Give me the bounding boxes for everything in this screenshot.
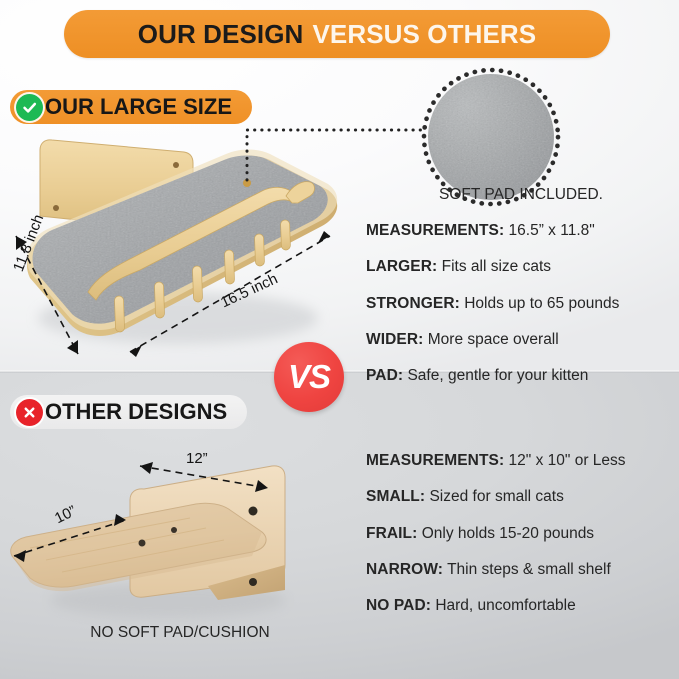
- feature-row: STRONGER: Holds up to 65 pounds: [366, 295, 676, 313]
- section-badge-others-label: OTHER DESIGNS: [45, 399, 227, 425]
- feature-list-others: MEASUREMENTS: 12" x 10" or Less SMALL: S…: [366, 452, 676, 634]
- feature-key: PAD:: [366, 367, 403, 384]
- x-circle-icon: [16, 399, 43, 426]
- header-title-secondary: VERSUS OTHERS: [312, 19, 536, 50]
- feature-row: LARGER: Fits all size cats: [366, 258, 676, 276]
- feature-value: Thin steps & small shelf: [447, 561, 611, 578]
- header-title-primary: OUR DESIGN: [138, 19, 304, 50]
- feature-row: MEASUREMENTS: 12" x 10" or Less: [366, 452, 676, 470]
- feature-key: WIDER:: [366, 331, 423, 348]
- feature-key: SMALL:: [366, 488, 425, 505]
- feature-value: 16.5” x 11.8": [509, 222, 595, 239]
- feature-row: WIDER: More space overall: [366, 331, 676, 349]
- section-badge-ours: OUR LARGE SIZE: [10, 90, 252, 124]
- infographic-canvas: OUR DESIGN VERSUS OTHERS OUR LARGE SIZE …: [0, 0, 679, 679]
- feature-key: MEASUREMENTS:: [366, 452, 504, 469]
- feature-row: NARROW: Thin steps & small shelf: [366, 561, 676, 579]
- feature-key: NO PAD:: [366, 597, 431, 614]
- dimension-label-width-bottom: 12”: [186, 450, 208, 467]
- vs-badge: VS: [274, 342, 344, 412]
- feature-key: FRAIL:: [366, 525, 417, 542]
- feature-value: Fits all size cats: [442, 258, 551, 275]
- feature-row: SMALL: Sized for small cats: [366, 488, 676, 506]
- header-banner: OUR DESIGN VERSUS OTHERS: [64, 10, 610, 58]
- section-badge-ours-label: OUR LARGE SIZE: [45, 94, 232, 120]
- feature-key: STRONGER:: [366, 295, 460, 312]
- feature-value: Sized for small cats: [429, 488, 563, 505]
- section-badge-others: OTHER DESIGNS: [10, 395, 247, 429]
- feature-value: Safe, gentle for your kitten: [407, 367, 588, 384]
- soft-pad-caption: SOFT PAD INCLUDED.: [366, 186, 676, 204]
- feature-key: LARGER:: [366, 258, 437, 275]
- feature-value: Holds up to 65 pounds: [464, 295, 619, 312]
- feature-value: 12" x 10" or Less: [509, 452, 626, 469]
- feature-row: MEASUREMENTS: 16.5” x 11.8": [366, 222, 676, 240]
- feature-value: More space overall: [428, 331, 559, 348]
- feature-row: FRAIL: Only holds 15-20 pounds: [366, 525, 676, 543]
- feature-row: PAD: Safe, gentle for your kitten: [366, 367, 676, 385]
- feature-value: Only holds 15-20 pounds: [422, 525, 594, 542]
- vs-label: VS: [288, 358, 330, 396]
- feature-key: NARROW:: [366, 561, 443, 578]
- feature-value: Hard, uncomfortable: [435, 597, 575, 614]
- feature-key: MEASUREMENTS:: [366, 222, 504, 239]
- no-soft-pad-caption: NO SOFT PAD/CUSHION: [30, 624, 330, 642]
- feature-list-ours: MEASUREMENTS: 16.5” x 11.8" LARGER: Fits…: [366, 222, 676, 404]
- check-circle-icon: [16, 94, 43, 121]
- feature-row: NO PAD: Hard, uncomfortable: [366, 597, 676, 615]
